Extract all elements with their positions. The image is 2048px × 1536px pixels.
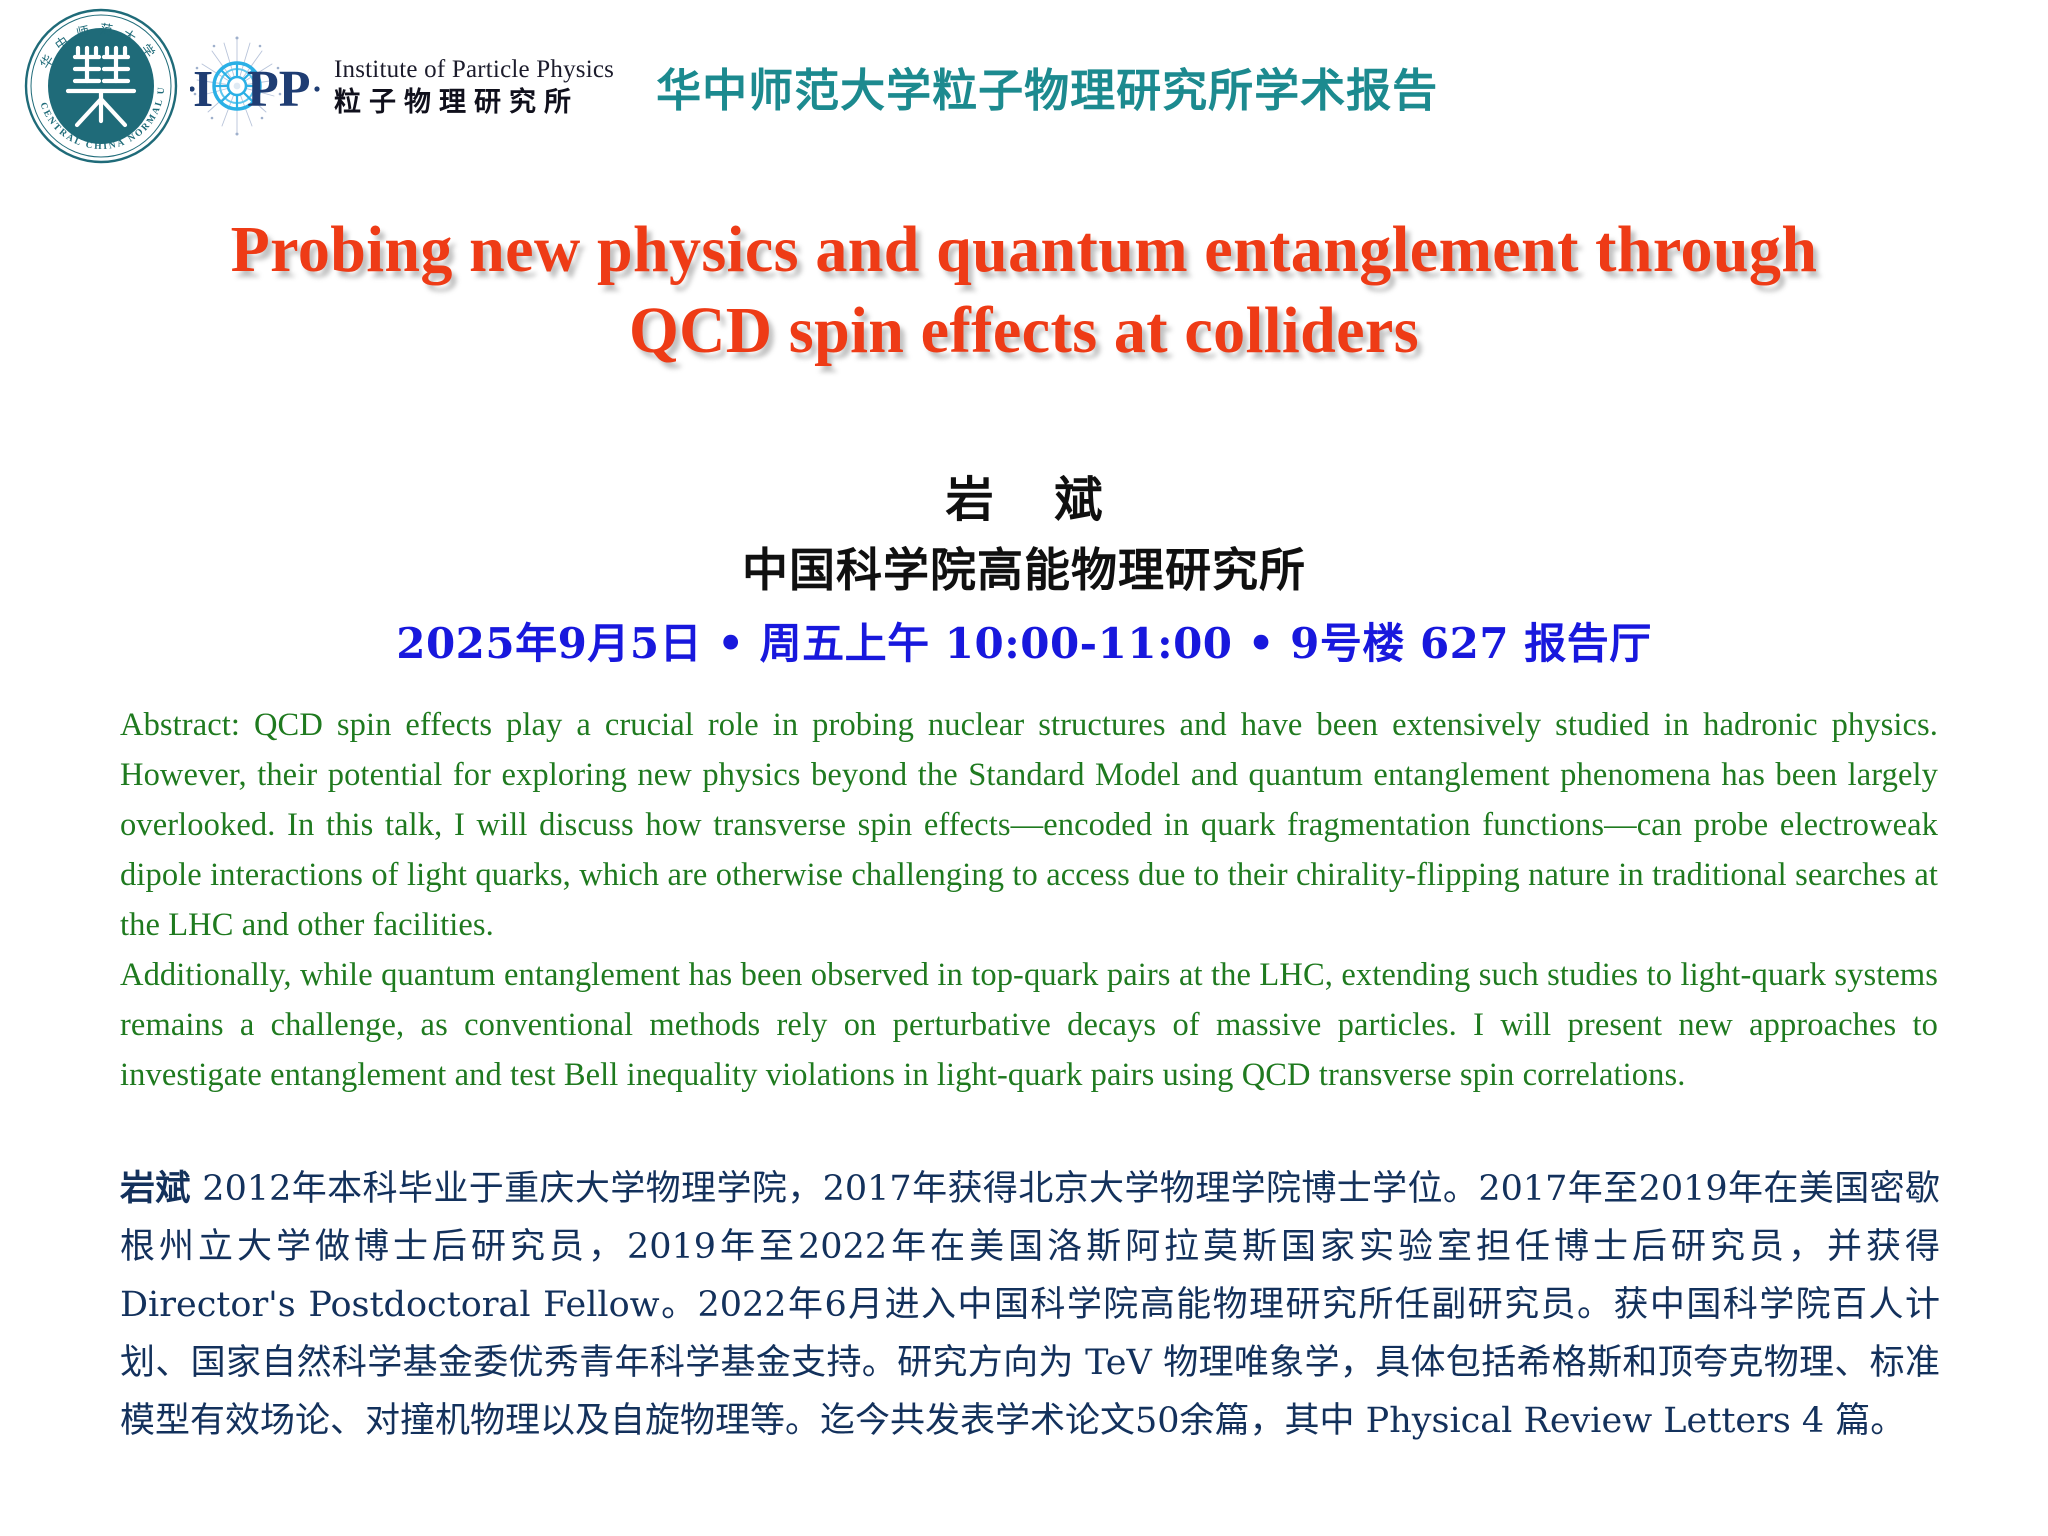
bio-body: 2012年本科毕业于重庆大学物理学院，2017年获得北京大学物理学院博士学位。2… [120, 1169, 1940, 1441]
talk-title-line-2: QCD spin effects at colliders [137, 291, 1910, 372]
iopp-acronym-icon: I PP [190, 34, 322, 138]
page-title: Probing new physics and quantum entangle… [137, 210, 1910, 371]
seminar-poster: 华中师范大学 CENTRAL CHINA NORMAL UNIVERSITY [0, 0, 2048, 1536]
svg-text:I: I [193, 61, 213, 118]
poster-header: 华中师范大学 CENTRAL CHINA NORMAL UNIVERSITY [0, 0, 2048, 172]
speaker-affiliation: 中国科学院高能物理研究所 [0, 534, 2048, 600]
speaker-bio-section: 岩斌 2012年本科毕业于重庆大学物理学院，2017年获得北京大学物理学院博士学… [120, 1160, 1940, 1450]
abstract-paragraph-2: Additionally, while quantum entanglement… [120, 950, 1938, 1100]
speaker-name: 岩 斌 [0, 460, 2048, 530]
iopp-english-name: Institute of Particle Physics [334, 57, 614, 82]
abstract-section: Abstract: QCD spin effects play a crucia… [120, 700, 1938, 1100]
iopp-logo-lockup: I PP Institute of Particle Physics 粒子物理研… [190, 34, 614, 138]
ccnu-university-seal-icon: 华中师范大学 CENTRAL CHINA NORMAL UNIVERSITY [22, 7, 180, 165]
schedule-line: 2025年9月5日 • 周五上午 10:00-11:00 • 9号楼 627 报… [0, 610, 2048, 671]
talk-title-line-1: Probing new physics and quantum entangle… [137, 210, 1910, 291]
speaker-bio: 岩斌 2012年本科毕业于重庆大学物理学院，2017年获得北京大学物理学院博士学… [120, 1160, 1940, 1450]
svg-text:PP: PP [247, 61, 311, 118]
header-title: 华中师范大学粒子物理研究所学术报告 [656, 54, 1438, 119]
abstract-paragraph-1: Abstract: QCD spin effects play a crucia… [120, 700, 1938, 950]
bio-speaker-name: 岩斌 [120, 1168, 191, 1209]
iopp-chinese-name: 粒子物理研究所 [334, 89, 614, 116]
